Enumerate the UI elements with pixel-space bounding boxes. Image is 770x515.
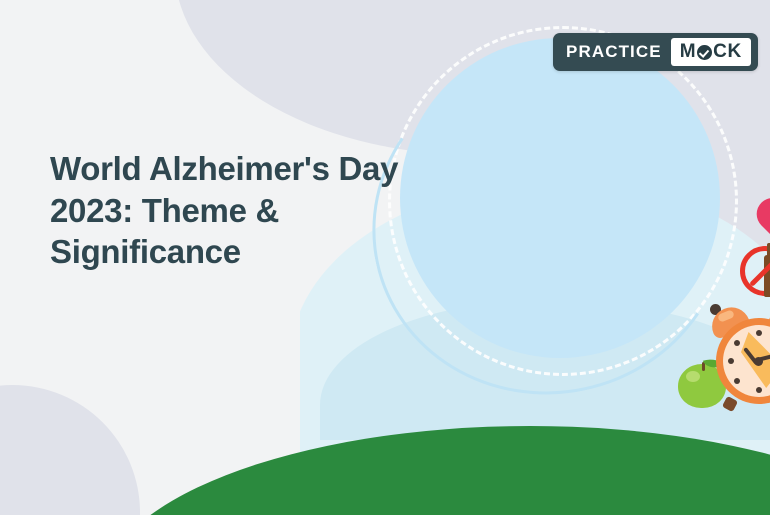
clock-hour-dot: [756, 330, 762, 336]
bottle-glyph: [764, 255, 770, 297]
practicemock-logo[interactable]: PRACTICE M CK: [553, 33, 758, 71]
background-blob-bottom-left: [0, 385, 140, 515]
page-title: World Alzheimer's Day 2023: Theme & Sign…: [50, 148, 470, 273]
alarm-clock-icon: [708, 300, 770, 408]
clock-center-pin: [754, 357, 763, 366]
clock-hour-dot: [734, 378, 740, 384]
check-circle-icon: [697, 45, 712, 60]
logo-mock-panel: M CK: [671, 38, 751, 66]
banner-root: 8h WATER: [0, 0, 770, 515]
clock-hour-dot: [728, 358, 734, 364]
clock-hour-dot: [734, 340, 740, 346]
green-hill: [100, 426, 770, 515]
apple-highlight: [686, 371, 700, 382]
logo-mock-text: M CK: [680, 41, 742, 63]
clock-hour-dot: [756, 387, 762, 393]
logo-mock-suffix: CK: [713, 41, 742, 63]
logo-practice-text: PRACTICE: [560, 40, 671, 64]
logo-mock-prefix: M: [680, 41, 696, 63]
